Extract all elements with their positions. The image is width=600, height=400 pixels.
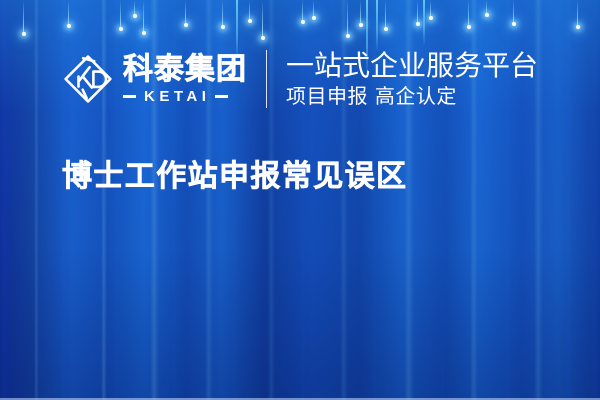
banner-title: 博士工作站申报常见误区 <box>62 158 407 196</box>
light-beam-dot-icon <box>429 16 433 20</box>
logo-dash-left-icon <box>123 95 136 98</box>
light-beam <box>23 0 24 34</box>
light-beam <box>143 0 144 33</box>
light-beam <box>360 0 361 25</box>
light-beam-dot-icon <box>359 23 363 27</box>
light-beam-tall <box>423 0 425 46</box>
light-beam <box>222 0 223 27</box>
logo-company-name-en: KETAI <box>136 89 215 104</box>
logo-dash-right-icon <box>215 95 228 98</box>
light-beam-dot-icon <box>416 22 420 26</box>
light-beam-dot-icon <box>467 25 471 29</box>
light-beam-dot-icon <box>261 36 265 40</box>
tagline-secondary: 项目申报 高企认定 <box>286 86 538 107</box>
light-beam-dot-icon <box>142 31 146 35</box>
light-beam <box>68 0 69 26</box>
banner-header: 科泰集团 KETAI 一站式企业服务平台 项目申报 高企认定 <box>62 46 538 112</box>
light-beam <box>347 0 348 36</box>
light-beam-dot-icon <box>248 19 252 23</box>
light-beam <box>302 0 303 22</box>
logo-wordmark: 科泰集团 KETAI <box>123 55 247 104</box>
light-beam <box>313 0 314 18</box>
light-beam-dot-icon <box>119 27 123 31</box>
light-beam-dot-icon <box>221 25 225 29</box>
ketai-logo[interactable]: 科泰集团 KETAI <box>62 53 247 105</box>
tagline-primary: 一站式企业服务平台 <box>286 51 538 80</box>
light-beam <box>513 0 514 24</box>
light-beam <box>262 0 263 38</box>
light-beam <box>430 0 431 18</box>
light-beam-dot-icon <box>485 13 489 17</box>
light-beam-dot-icon <box>312 16 316 20</box>
light-beam-dot-icon <box>512 22 516 26</box>
light-beam-tall <box>376 0 378 52</box>
light-beam-dot-icon <box>22 32 26 36</box>
logo-company-name-cn: 科泰集团 <box>123 55 247 85</box>
light-beam-dot-icon <box>384 27 388 31</box>
light-beam <box>120 0 121 29</box>
light-beam <box>468 0 469 27</box>
light-beam-dot-icon <box>576 25 580 29</box>
light-beam <box>185 0 186 25</box>
light-beam-dot-icon <box>133 14 137 18</box>
light-beam-dot-icon <box>184 23 188 27</box>
light-beam-dot-icon <box>67 24 71 28</box>
ketai-diamond-k-logo-icon <box>62 53 114 105</box>
light-beam-dot-icon <box>346 34 350 38</box>
light-beam <box>577 0 578 27</box>
promo-banner: 科泰集团 KETAI 一站式企业服务平台 项目申报 高企认定 博士工作站申报常见… <box>0 0 600 400</box>
light-beam <box>249 0 250 21</box>
light-beam <box>486 0 487 15</box>
light-beam <box>385 0 386 29</box>
header-divider <box>266 50 267 108</box>
light-beam-dot-icon <box>301 20 305 24</box>
light-beam <box>134 0 135 16</box>
tagline-block: 一站式企业服务平台 项目申报 高企认定 <box>286 48 538 110</box>
logo-company-name-en-row: KETAI <box>123 89 247 104</box>
light-beam <box>417 0 418 24</box>
